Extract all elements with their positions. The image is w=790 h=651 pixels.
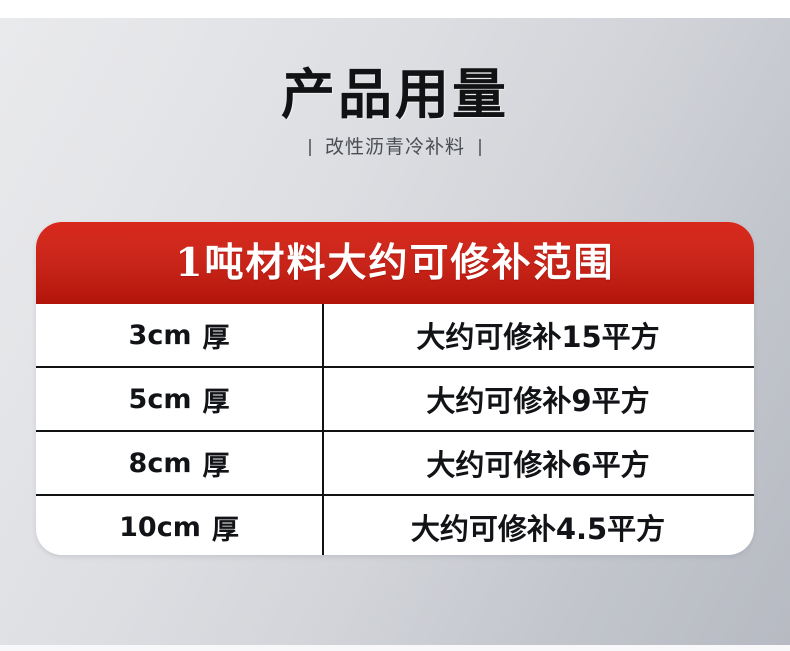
cell-coverage: 大约可修补6平方 <box>322 432 754 494</box>
thickness-value: 10cm <box>119 512 201 543</box>
page-subtitle: 改性沥青冷补料 <box>325 137 465 157</box>
cell-coverage: 大约可修补9平方 <box>322 368 754 430</box>
product-usage-infographic: 产品用量 改性沥青冷补料 1吨材料大约可修补范围 3cm 厚 大约可修补15平方 <box>0 0 790 651</box>
thickness-value: 8cm <box>129 448 192 479</box>
coverage-value: 大约可修补4.5平方 <box>411 506 665 548</box>
heading-block: 产品用量 改性沥青冷补料 <box>0 64 790 157</box>
background-bottom-strip <box>0 645 790 651</box>
cell-coverage: 大约可修补4.5平方 <box>322 496 754 555</box>
coverage-card: 1吨材料大约可修补范围 3cm 厚 大约可修补15平方 5cm 厚 <box>36 222 754 555</box>
table-column-divider <box>322 304 324 555</box>
coverage-value: 大约可修补9平方 <box>426 378 649 420</box>
cell-thickness: 3cm 厚 <box>36 304 322 366</box>
subtitle-row: 改性沥青冷补料 <box>0 137 790 157</box>
thickness-suffix: 厚 <box>202 316 229 355</box>
thickness-suffix: 厚 <box>202 380 229 419</box>
cell-coverage: 大约可修补15平方 <box>322 304 754 366</box>
coverage-value: 大约可修补15平方 <box>416 314 659 356</box>
table-row: 8cm 厚 大约可修补6平方 <box>36 432 754 496</box>
thickness-value: 3cm <box>129 320 192 351</box>
coverage-value: 大约可修补6平方 <box>426 442 649 484</box>
table-row: 10cm 厚 大约可修补4.5平方 <box>36 496 754 555</box>
thickness-suffix: 厚 <box>202 444 229 483</box>
cell-thickness: 5cm 厚 <box>36 368 322 430</box>
thickness-suffix: 厚 <box>212 508 239 547</box>
cell-thickness: 10cm 厚 <box>36 496 322 555</box>
table-row: 3cm 厚 大约可修补15平方 <box>36 304 754 368</box>
coverage-table: 3cm 厚 大约可修补15平方 5cm 厚 大约可修补9平方 <box>36 304 754 555</box>
page-title: 产品用量 <box>0 64 790 126</box>
card-header: 1吨材料大约可修补范围 <box>36 222 754 304</box>
thickness-value: 5cm <box>129 384 192 415</box>
card-header-title: 1吨材料大约可修补范围 <box>175 242 614 284</box>
subtitle-right-bar-icon <box>479 139 481 156</box>
table-row: 5cm 厚 大约可修补9平方 <box>36 368 754 432</box>
subtitle-left-bar-icon <box>309 139 311 156</box>
background-top-strip <box>0 0 790 18</box>
cell-thickness: 8cm 厚 <box>36 432 322 494</box>
